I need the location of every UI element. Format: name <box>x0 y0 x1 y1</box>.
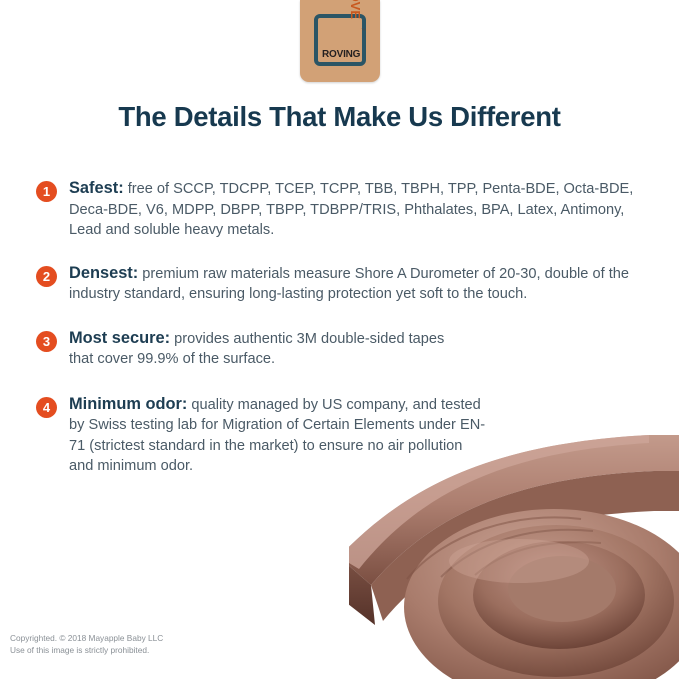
feature-list: 1 Safest: free of SCCP, TDCPP, TCEP, TCP… <box>36 178 636 497</box>
brand-logo: ROVING COVE ™ <box>300 0 380 82</box>
copyright-notice: Copyrighted. © 2018 Mayapple Baby LLC Us… <box>10 633 163 656</box>
copyright-line-1: Copyrighted. © 2018 Mayapple Baby LLC <box>10 633 163 645</box>
coil-ring-outer <box>404 509 679 679</box>
bullet-number-4: 4 <box>36 397 57 418</box>
coil-ring-middle <box>438 525 674 677</box>
list-item: 4 Minimum odor: quality managed by US co… <box>36 394 636 477</box>
list-item-body: Most secure: provides authentic 3M doubl… <box>69 328 469 370</box>
copyright-line-2: Use of this image is strictly prohibited… <box>10 645 163 657</box>
coil-ring-inner <box>473 541 645 649</box>
foam-strip-end-cap <box>349 557 375 625</box>
list-item-label: Minimum odor: <box>69 395 187 413</box>
list-item-body: Minimum odor: quality managed by US comp… <box>69 394 489 477</box>
list-item-label: Most secure: <box>69 329 170 347</box>
coil-seam-3 <box>475 542 601 575</box>
list-item: 2 Densest: premium raw materials measure… <box>36 263 636 305</box>
logo-word-cove: COVE <box>349 0 362 19</box>
list-item: 3 Most secure: provides authentic 3M dou… <box>36 328 636 370</box>
promo-image-canvas: ROVING COVE ™ The Details That Make Us D… <box>0 0 679 679</box>
logo-square-frame: ROVING COVE ™ <box>314 14 366 66</box>
list-item-body: Safest: free of SCCP, TDCPP, TCEP, TCPP,… <box>69 178 659 241</box>
trademark-icon: ™ <box>361 28 366 34</box>
list-item-body: Densest: premium raw materials measure S… <box>69 263 664 305</box>
list-item-description: free of SCCP, TDCPP, TCEP, TCPP, TBB, TB… <box>69 181 633 238</box>
bullet-number-1: 1 <box>36 181 57 202</box>
coil-seam-2 <box>441 530 593 577</box>
bullet-number-2: 2 <box>36 266 57 287</box>
bullet-number-3: 3 <box>36 331 57 352</box>
list-item: 1 Safest: free of SCCP, TDCPP, TCEP, TCP… <box>36 178 636 241</box>
list-item-label: Densest: <box>69 264 138 282</box>
page-title: The Details That Make Us Different <box>0 101 679 133</box>
list-item-label: Safest: <box>69 179 124 197</box>
logo-word-roving: ROVING <box>322 50 360 60</box>
coil-ring-core <box>508 556 616 622</box>
list-item-description: premium raw materials measure Shore A Du… <box>69 266 629 303</box>
coil-sheen <box>449 539 589 583</box>
coil-seam-1 <box>407 517 581 579</box>
